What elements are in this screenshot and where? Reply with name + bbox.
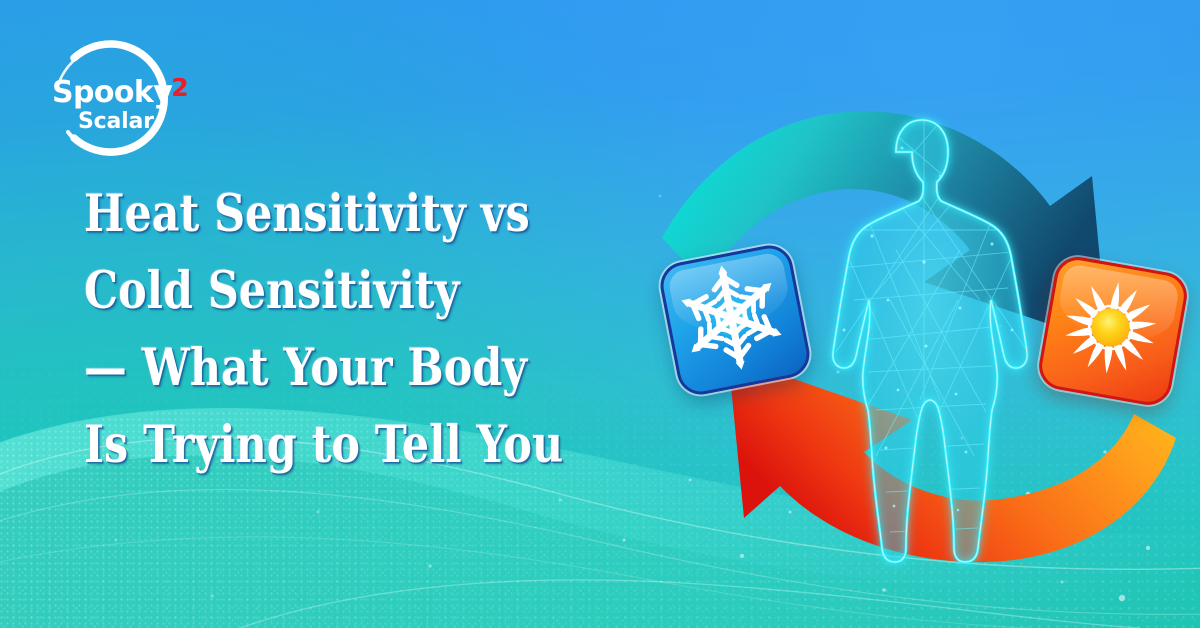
heat-sensitivity-card[interactable] [1035,253,1190,408]
cold-sensitivity-card[interactable] [656,241,813,398]
headline: Heat Sensitivity vs Cold Sensitivity — W… [84,176,724,484]
headline-line-1: Heat Sensitivity vs [84,176,622,253]
sun-icon [1040,257,1181,398]
headline-line-4: Is Trying to Tell You [84,407,622,484]
promo-banner: Spooky2 Scalar Heat Sensitivity vs Cold … [0,0,1200,628]
headline-line-3: — What Your Body [84,330,622,407]
brand-logo[interactable]: Spooky2 Scalar [44,36,194,160]
headline-line-2: Cold Sensitivity [84,253,622,330]
snowflake-icon [660,246,803,389]
logo-ring-icon [44,36,194,160]
